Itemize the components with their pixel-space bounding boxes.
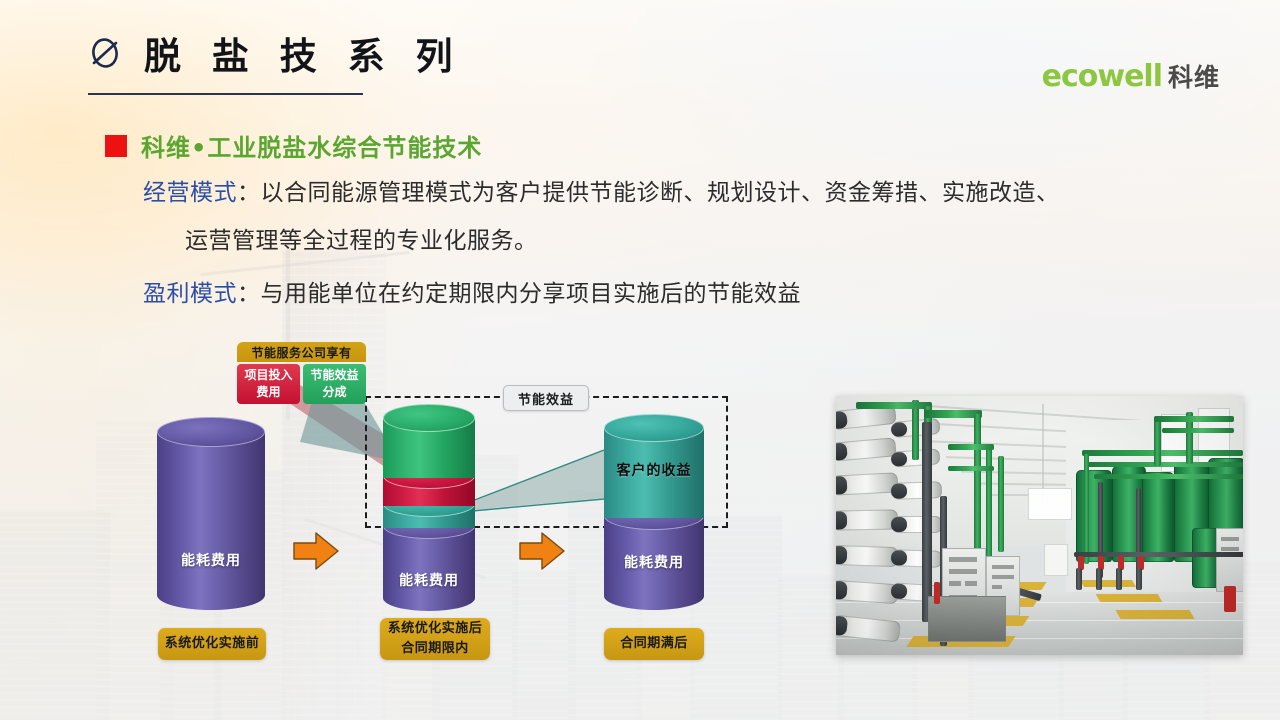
plant-photo <box>836 396 1243 655</box>
cylinder-segment-green-top <box>383 418 475 478</box>
legend-cell-investment-line2: 费用 <box>256 384 280 401</box>
cylinder-during-label: 能耗费用 <box>383 570 475 590</box>
paragraph-lead-3: 盈利模式 <box>143 281 237 307</box>
legend-cell-investment-line1: 项目投入 <box>244 367 292 384</box>
red-square-bullet-icon <box>105 135 127 157</box>
caption-during-line1: 系统优化实施后 <box>388 619 483 639</box>
paragraph-body-2: 运营管理等全过程的专业化服务。 <box>185 228 538 254</box>
legend-block: 节能服务公司享有 项目投入 费用 节能效益 分成 <box>237 342 366 404</box>
cylinder-after-contract: 客户的收益 能耗费用 <box>604 428 704 610</box>
caption-during: 系统优化实施后 合同期限内 <box>380 618 490 660</box>
legend-cell-benefit-line1: 节能效益 <box>310 367 358 384</box>
cylinder-segment-teal-band <box>383 504 475 528</box>
caption-after: 合同期满后 <box>604 628 704 660</box>
slide-root: 脱 盐 技 系 列 ecowell 科维 科维•工业脱盐水综合节能技术 经营模式… <box>0 0 1280 720</box>
paragraph-business-model: 经营模式：以合同能源管理模式为客户提供节能诊断、规划设计、资金筹措、实施改造、 <box>143 182 1060 205</box>
energy-saving-diagram: 节能效益 节能服务公司享有 项目投入 费用 节能效益 分成 能耗费用 <box>0 330 820 675</box>
page-title: 脱 盐 技 系 列 <box>144 26 462 80</box>
legend-cell-benefit-share: 节能效益 分成 <box>303 364 366 404</box>
cylinder-after-benefit-label: 客户的收益 <box>604 460 704 480</box>
legend-cell-benefit-line2: 分成 <box>322 384 346 401</box>
header-underline <box>88 93 363 95</box>
caption-before: 系统优化实施前 <box>158 628 266 660</box>
logo-wordmark-cn: 科维 <box>1168 58 1220 94</box>
caption-during-line2: 合同期限内 <box>401 639 469 659</box>
caption-after-line1: 合同期满后 <box>620 634 688 654</box>
cylinder-segment-red-band <box>383 476 475 506</box>
cylinder-before-optimization: 能耗费用 <box>157 432 265 610</box>
energy-benefit-tag: 节能效益 <box>503 385 589 411</box>
legend-cells: 项目投入 费用 节能效益 分成 <box>237 364 366 404</box>
legend-header: 节能服务公司享有 <box>237 342 366 362</box>
cylinder-after-cost-label: 能耗费用 <box>604 552 704 572</box>
logo-wordmark-en: ecowell <box>1042 59 1162 94</box>
section-heading-text: 科维•工业脱盐水综合节能技术 <box>141 128 482 163</box>
brand-logo: ecowell 科维 <box>1042 58 1220 94</box>
paragraph-body-3: ：与用能单位在约定期限内分享项目实施后的节能效益 <box>237 281 801 307</box>
paragraph-lead-1: 经营模式 <box>143 180 237 206</box>
arrow-2-icon <box>518 530 566 572</box>
cylinder-during-contract: 能耗费用 <box>383 418 475 611</box>
null-set-icon <box>88 36 122 70</box>
slide-header: 脱 盐 技 系 列 <box>88 26 462 80</box>
caption-before-line1: 系统优化实施前 <box>165 634 260 654</box>
cylinder-before-label: 能耗费用 <box>157 550 265 570</box>
paragraph-body-1: ：以合同能源管理模式为客户提供节能诊断、规划设计、资金筹措、实施改造、 <box>237 180 1060 206</box>
arrow-1-icon <box>292 530 340 572</box>
legend-cell-investment: 项目投入 费用 <box>237 364 300 404</box>
cylinder-segment-energy-cost <box>157 432 265 610</box>
cylinder-segment-energy-cost <box>383 526 475 611</box>
paragraph-profit-model: 盈利模式：与用能单位在约定期限内分享项目实施后的节能效益 <box>143 283 801 306</box>
paragraph-business-model-cont: 运营管理等全过程的专业化服务。 <box>185 230 538 253</box>
section-heading: 科维•工业脱盐水综合节能技术 <box>105 128 482 163</box>
